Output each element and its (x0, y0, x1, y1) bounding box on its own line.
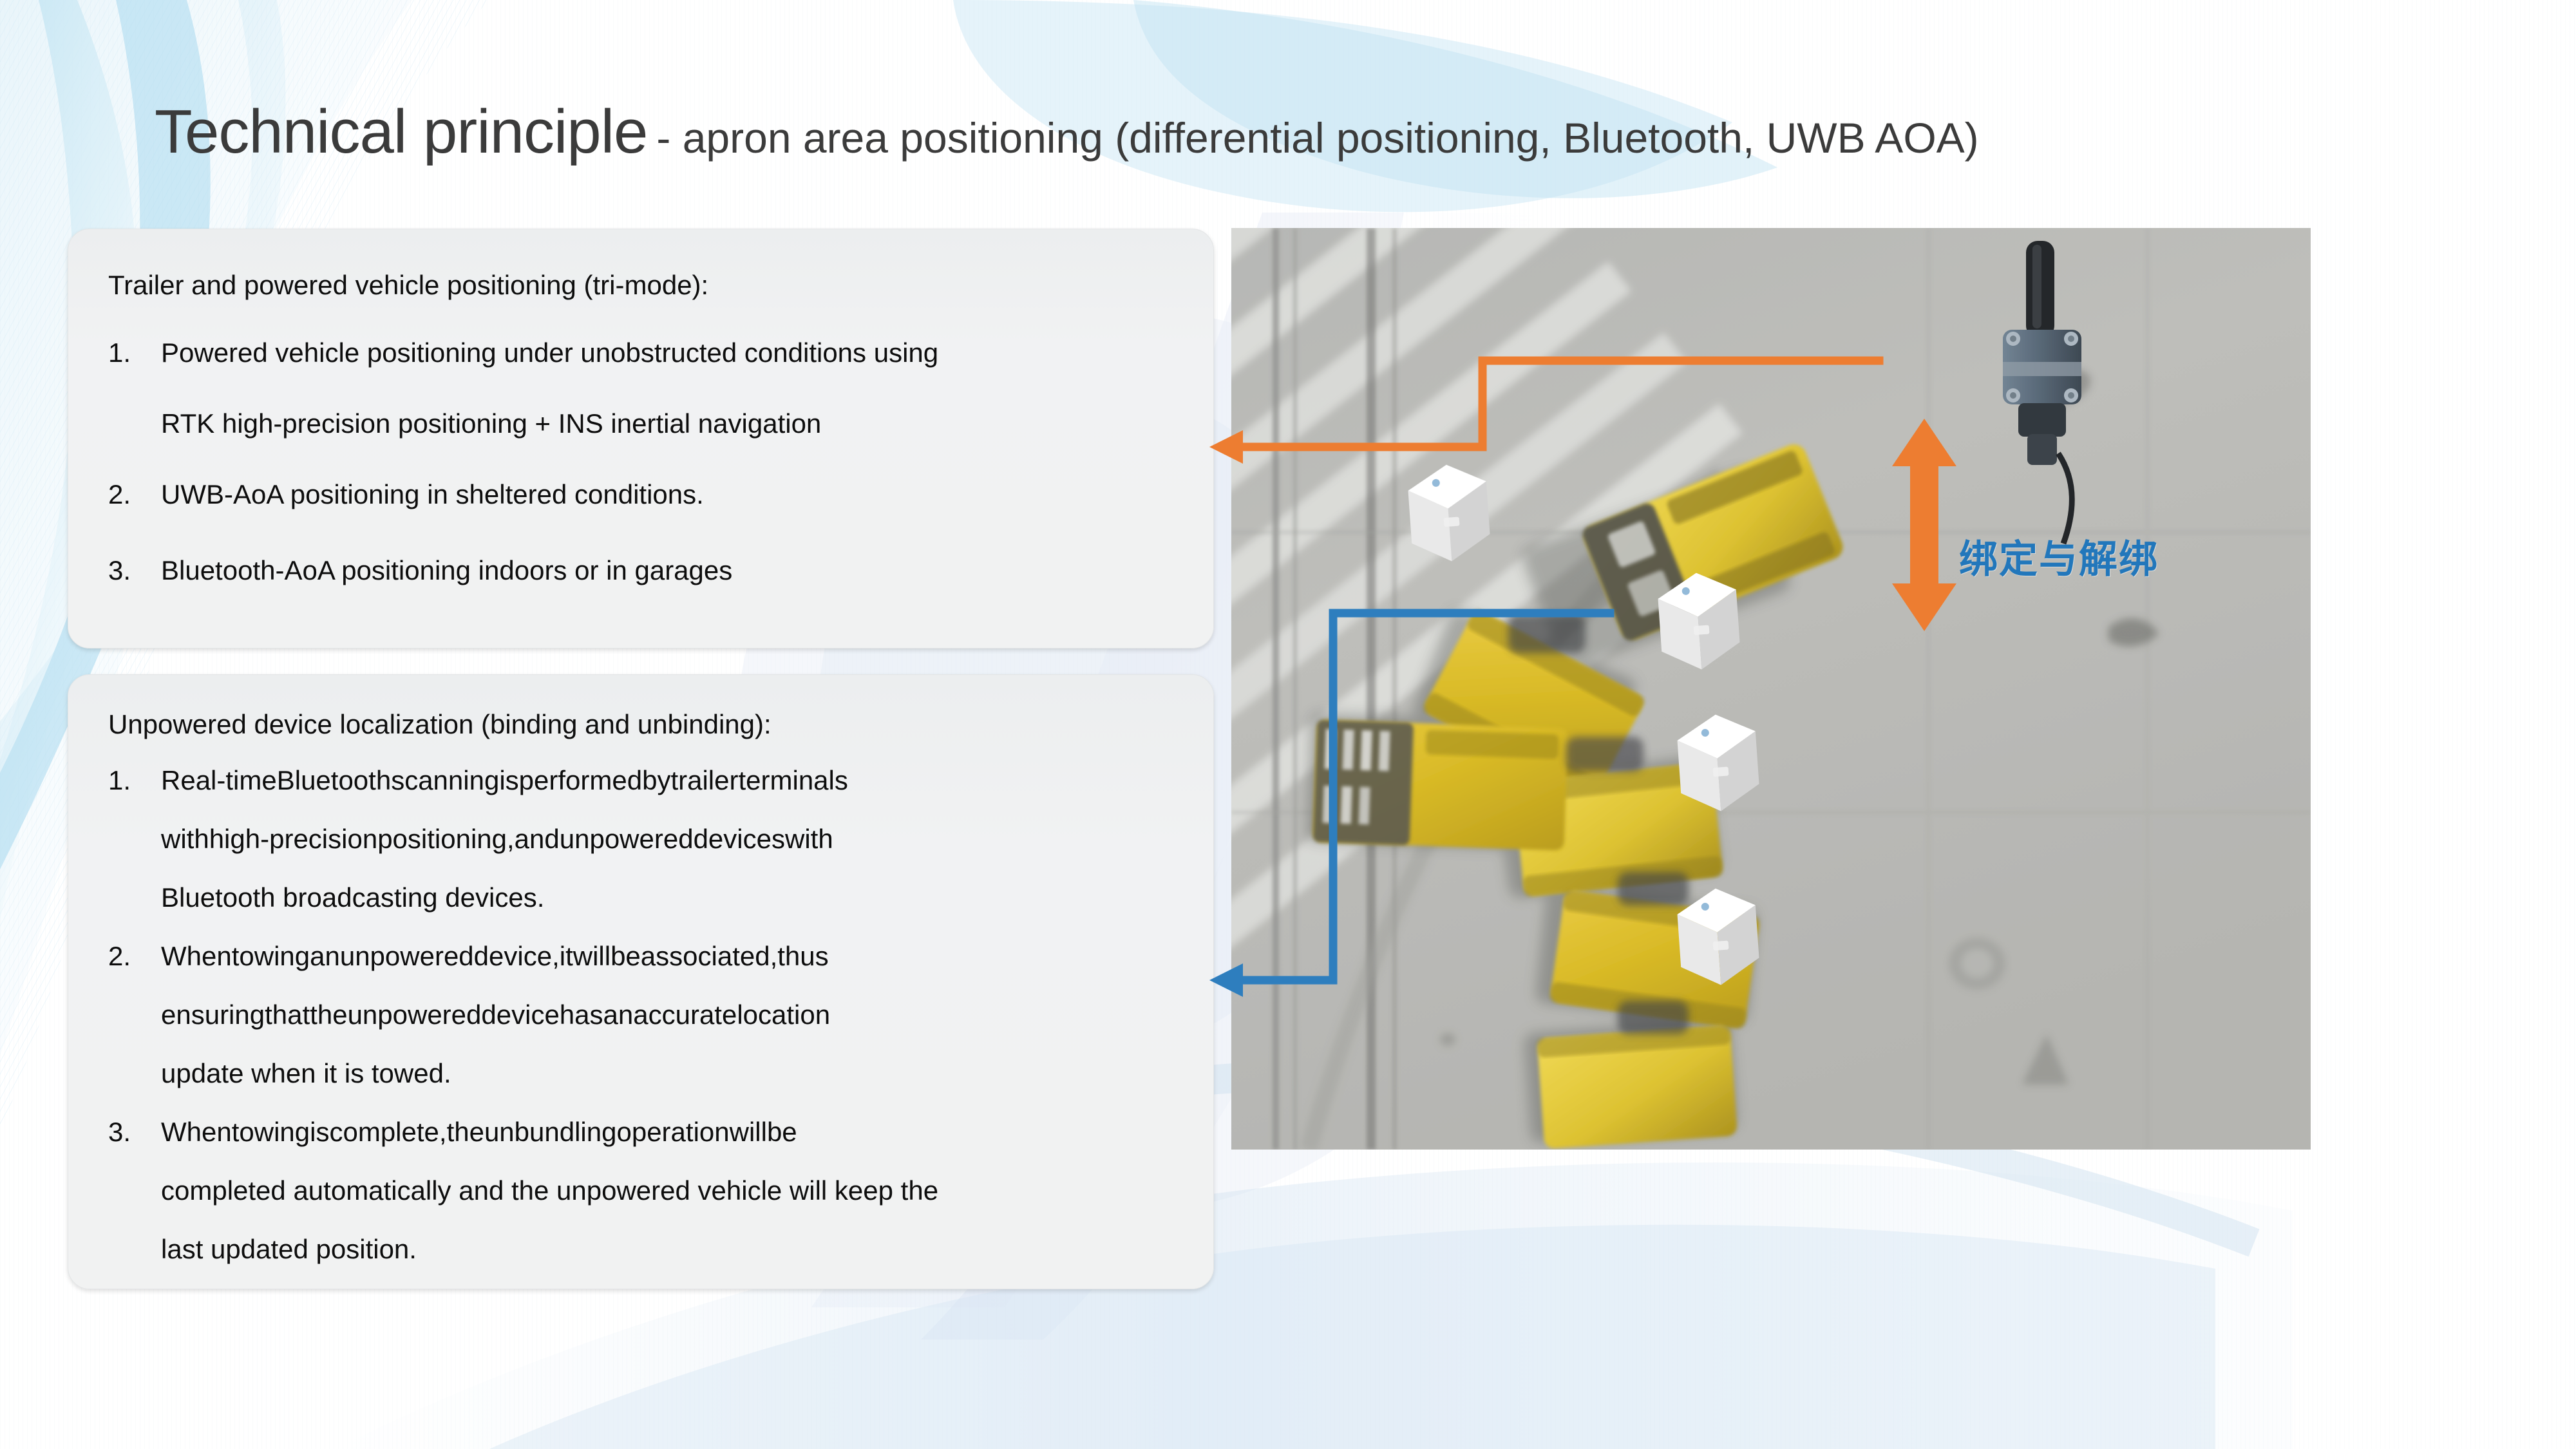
card-unpowered-device-localization: Unpowered device localization (binding a… (68, 674, 1214, 1289)
list-item-line: last updated position. (161, 1234, 1177, 1265)
list-item: completed automatically and the unpowere… (108, 1175, 1177, 1234)
list-item-line: Whentowinganunpowereddevice,itwillbeasso… (161, 941, 1177, 972)
list-item-number: 3. (108, 555, 147, 586)
binding-unbinding-caption: 绑定与解绑 (1959, 528, 2159, 584)
list-item-number: 2. (108, 479, 147, 510)
card-2-lead-text: Unpowered device localization (binding a… (108, 708, 772, 741)
list-item: 3. Whentowingiscomplete,theunbundlingope… (108, 1117, 1177, 1175)
list-item: last updated position. (108, 1234, 1177, 1293)
list-item-line: Whentowingiscomplete,theunbundlingoperat… (161, 1117, 1177, 1148)
card-2-list: 1. Real-timeBluetoothscanningisperformed… (108, 765, 1177, 1293)
apron-aerial-photo (1231, 228, 2311, 1150)
card-trailer-powered-vehicle-positioning: Trailer and powered vehicle positioning … (68, 229, 1214, 649)
card-1-lead-text: Trailer and powered vehicle positioning … (108, 269, 708, 301)
list-item: 3. Bluetooth-AoA positioning indoors or … (108, 555, 1177, 626)
list-item: withhigh-precisionpositioning,andunpower… (108, 824, 1177, 882)
list-item: ensuringthattheunpowereddevicehasanaccur… (108, 999, 1177, 1058)
list-item-line: Bluetooth broadcasting devices. (161, 882, 1177, 913)
page-title-subtitle: - apron area positioning (differential p… (656, 114, 1978, 162)
list-item: 2. Whentowinganunpowereddevice,itwillbea… (108, 941, 1177, 999)
list-item: 2. UWB-AoA positioning in sheltered cond… (108, 479, 1177, 555)
list-item: 1. Real-timeBluetoothscanningisperformed… (108, 765, 1177, 824)
list-item-line: Powered vehicle positioning under unobst… (161, 337, 1177, 368)
list-item-number: 2. (108, 941, 147, 972)
list-item-line: RTK high-precision positioning + INS ine… (161, 408, 1177, 439)
page-title: Technical principle- apron area position… (155, 97, 2537, 180)
apron-aerial-photo-content (1231, 228, 2311, 1150)
page-title-main: Technical principle (155, 97, 647, 166)
list-item-number: 1. (108, 337, 147, 368)
list-item-line: UWB-AoA positioning in sheltered conditi… (161, 479, 1177, 510)
list-item: Bluetooth broadcasting devices. (108, 882, 1177, 941)
list-item: RTK high-precision positioning + INS ine… (108, 408, 1177, 479)
slide-canvas: Technical principle- apron area position… (0, 0, 2576, 1449)
list-item-number: 3. (108, 1117, 147, 1148)
list-item: 1. Powered vehicle positioning under uno… (108, 337, 1177, 408)
card-1-list: 1. Powered vehicle positioning under uno… (108, 337, 1177, 626)
list-item-line: Real-timeBluetoothscanningisperformedbyt… (161, 765, 1177, 796)
list-item: update when it is towed. (108, 1058, 1177, 1117)
list-item-line: update when it is towed. (161, 1058, 1177, 1089)
list-item-line: ensuringthattheunpowereddevicehasanaccur… (161, 999, 1177, 1030)
list-item-line: withhigh-precisionpositioning,andunpower… (161, 824, 1177, 855)
list-item-line: Bluetooth-AoA positioning indoors or in … (161, 555, 1177, 586)
list-item-line: completed automatically and the unpowere… (161, 1175, 1177, 1206)
list-item-number: 1. (108, 765, 147, 796)
